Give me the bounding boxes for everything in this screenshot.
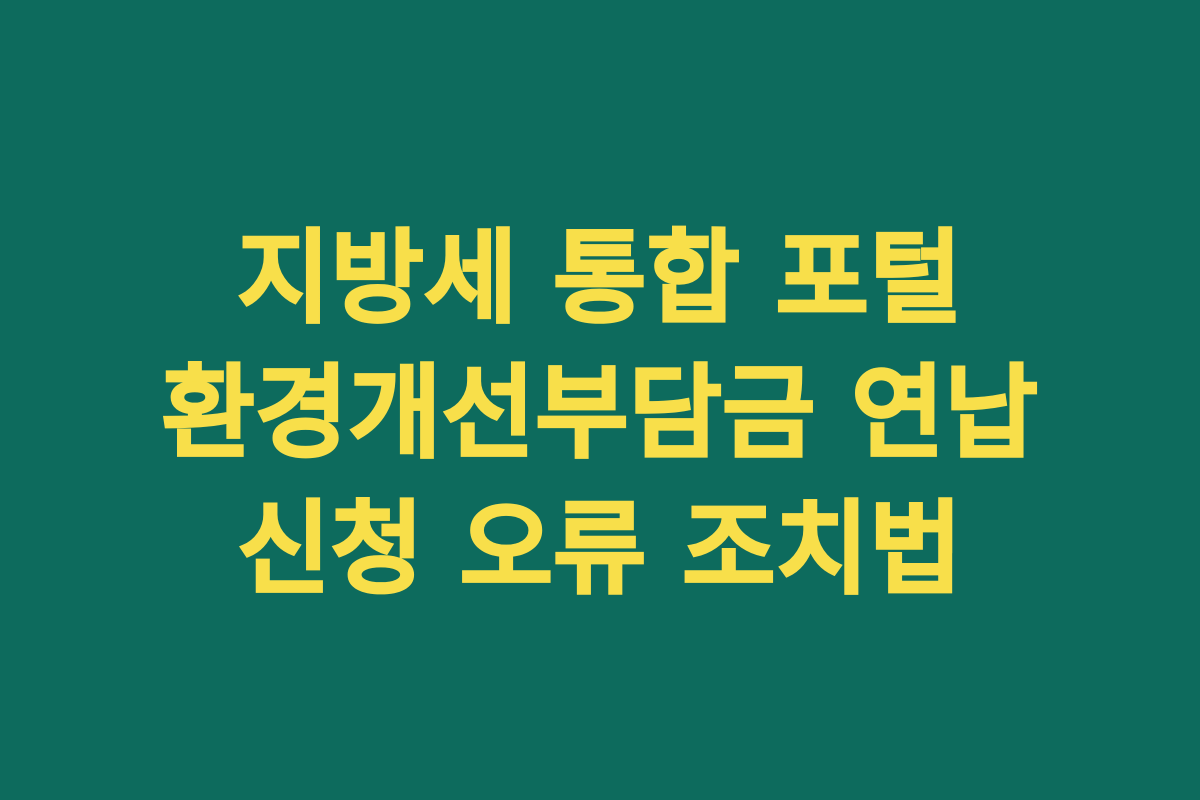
title-block: 지방세 통합 포털 환경개선부담금 연납 신청 오류 조치법: [65, 211, 1135, 617]
title-card: 지방세 통합 포털 환경개선부담금 연납 신청 오류 조치법: [0, 0, 1200, 800]
page-title: 지방세 통합 포털 환경개선부담금 연납 신청 오류 조치법: [75, 211, 1125, 617]
